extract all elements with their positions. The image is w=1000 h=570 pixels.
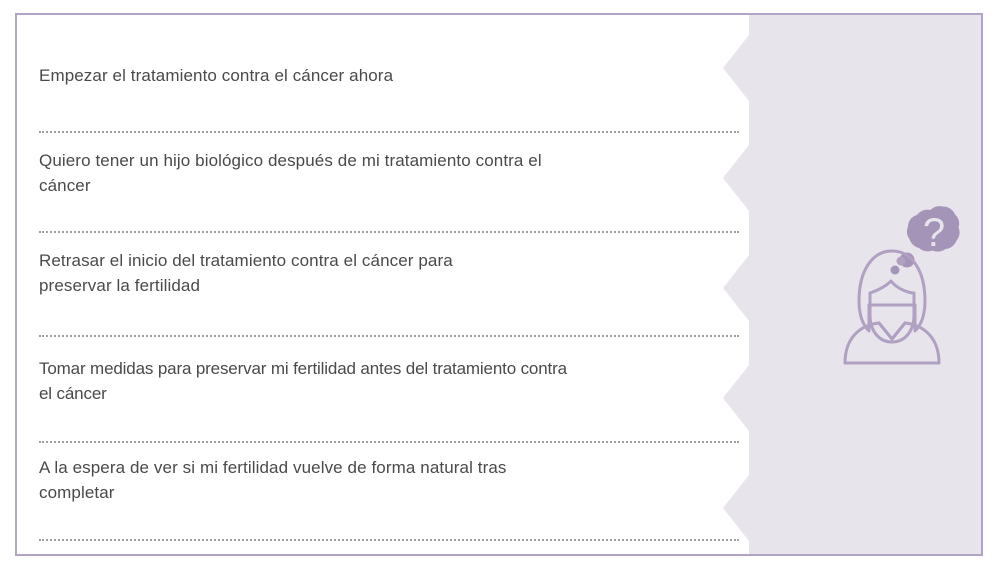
person-thinking-glyph: ?	[839, 203, 961, 368]
list-item[interactable]: Retrasar el inicio del tratamiento contr…	[39, 248, 739, 298]
list-item[interactable]: A la espera de ver si mi fertilidad vuel…	[39, 455, 739, 505]
list-item[interactable]: Quiero tener un hijo biológico después d…	[39, 148, 739, 198]
statement-list: Empezar el tratamiento contra el cáncer …	[17, 15, 757, 554]
list-item-text: A la espera de ver si mi fertilidad vuel…	[39, 455, 739, 505]
eye-dot-icon	[897, 257, 906, 266]
options-card: ? Empezar el tratamiento	[15, 13, 983, 556]
list-item-text: Tomar medidas para preservar mi fertilid…	[39, 356, 739, 406]
list-item-text: Retrasar el inicio del tratamiento contr…	[39, 248, 739, 298]
list-divider	[39, 231, 739, 233]
screenshot-root: ? Empezar el tratamiento	[0, 0, 1000, 570]
list-item-text: Empezar el tratamiento contra el cáncer …	[39, 63, 739, 88]
list-divider	[39, 441, 739, 443]
question-mark-glyph: ?	[923, 211, 945, 255]
list-item[interactable]: Empezar el tratamiento contra el cáncer …	[39, 63, 739, 88]
person-thinking-icon: ?	[839, 203, 961, 368]
list-divider	[39, 539, 739, 541]
list-item[interactable]: Tomar medidas para preservar mi fertilid…	[39, 356, 739, 406]
list-divider	[39, 335, 739, 337]
thought-bubble-tiny-icon	[891, 266, 900, 275]
list-divider	[39, 131, 739, 133]
list-item-text: Quiero tener un hijo biológico después d…	[39, 148, 739, 198]
